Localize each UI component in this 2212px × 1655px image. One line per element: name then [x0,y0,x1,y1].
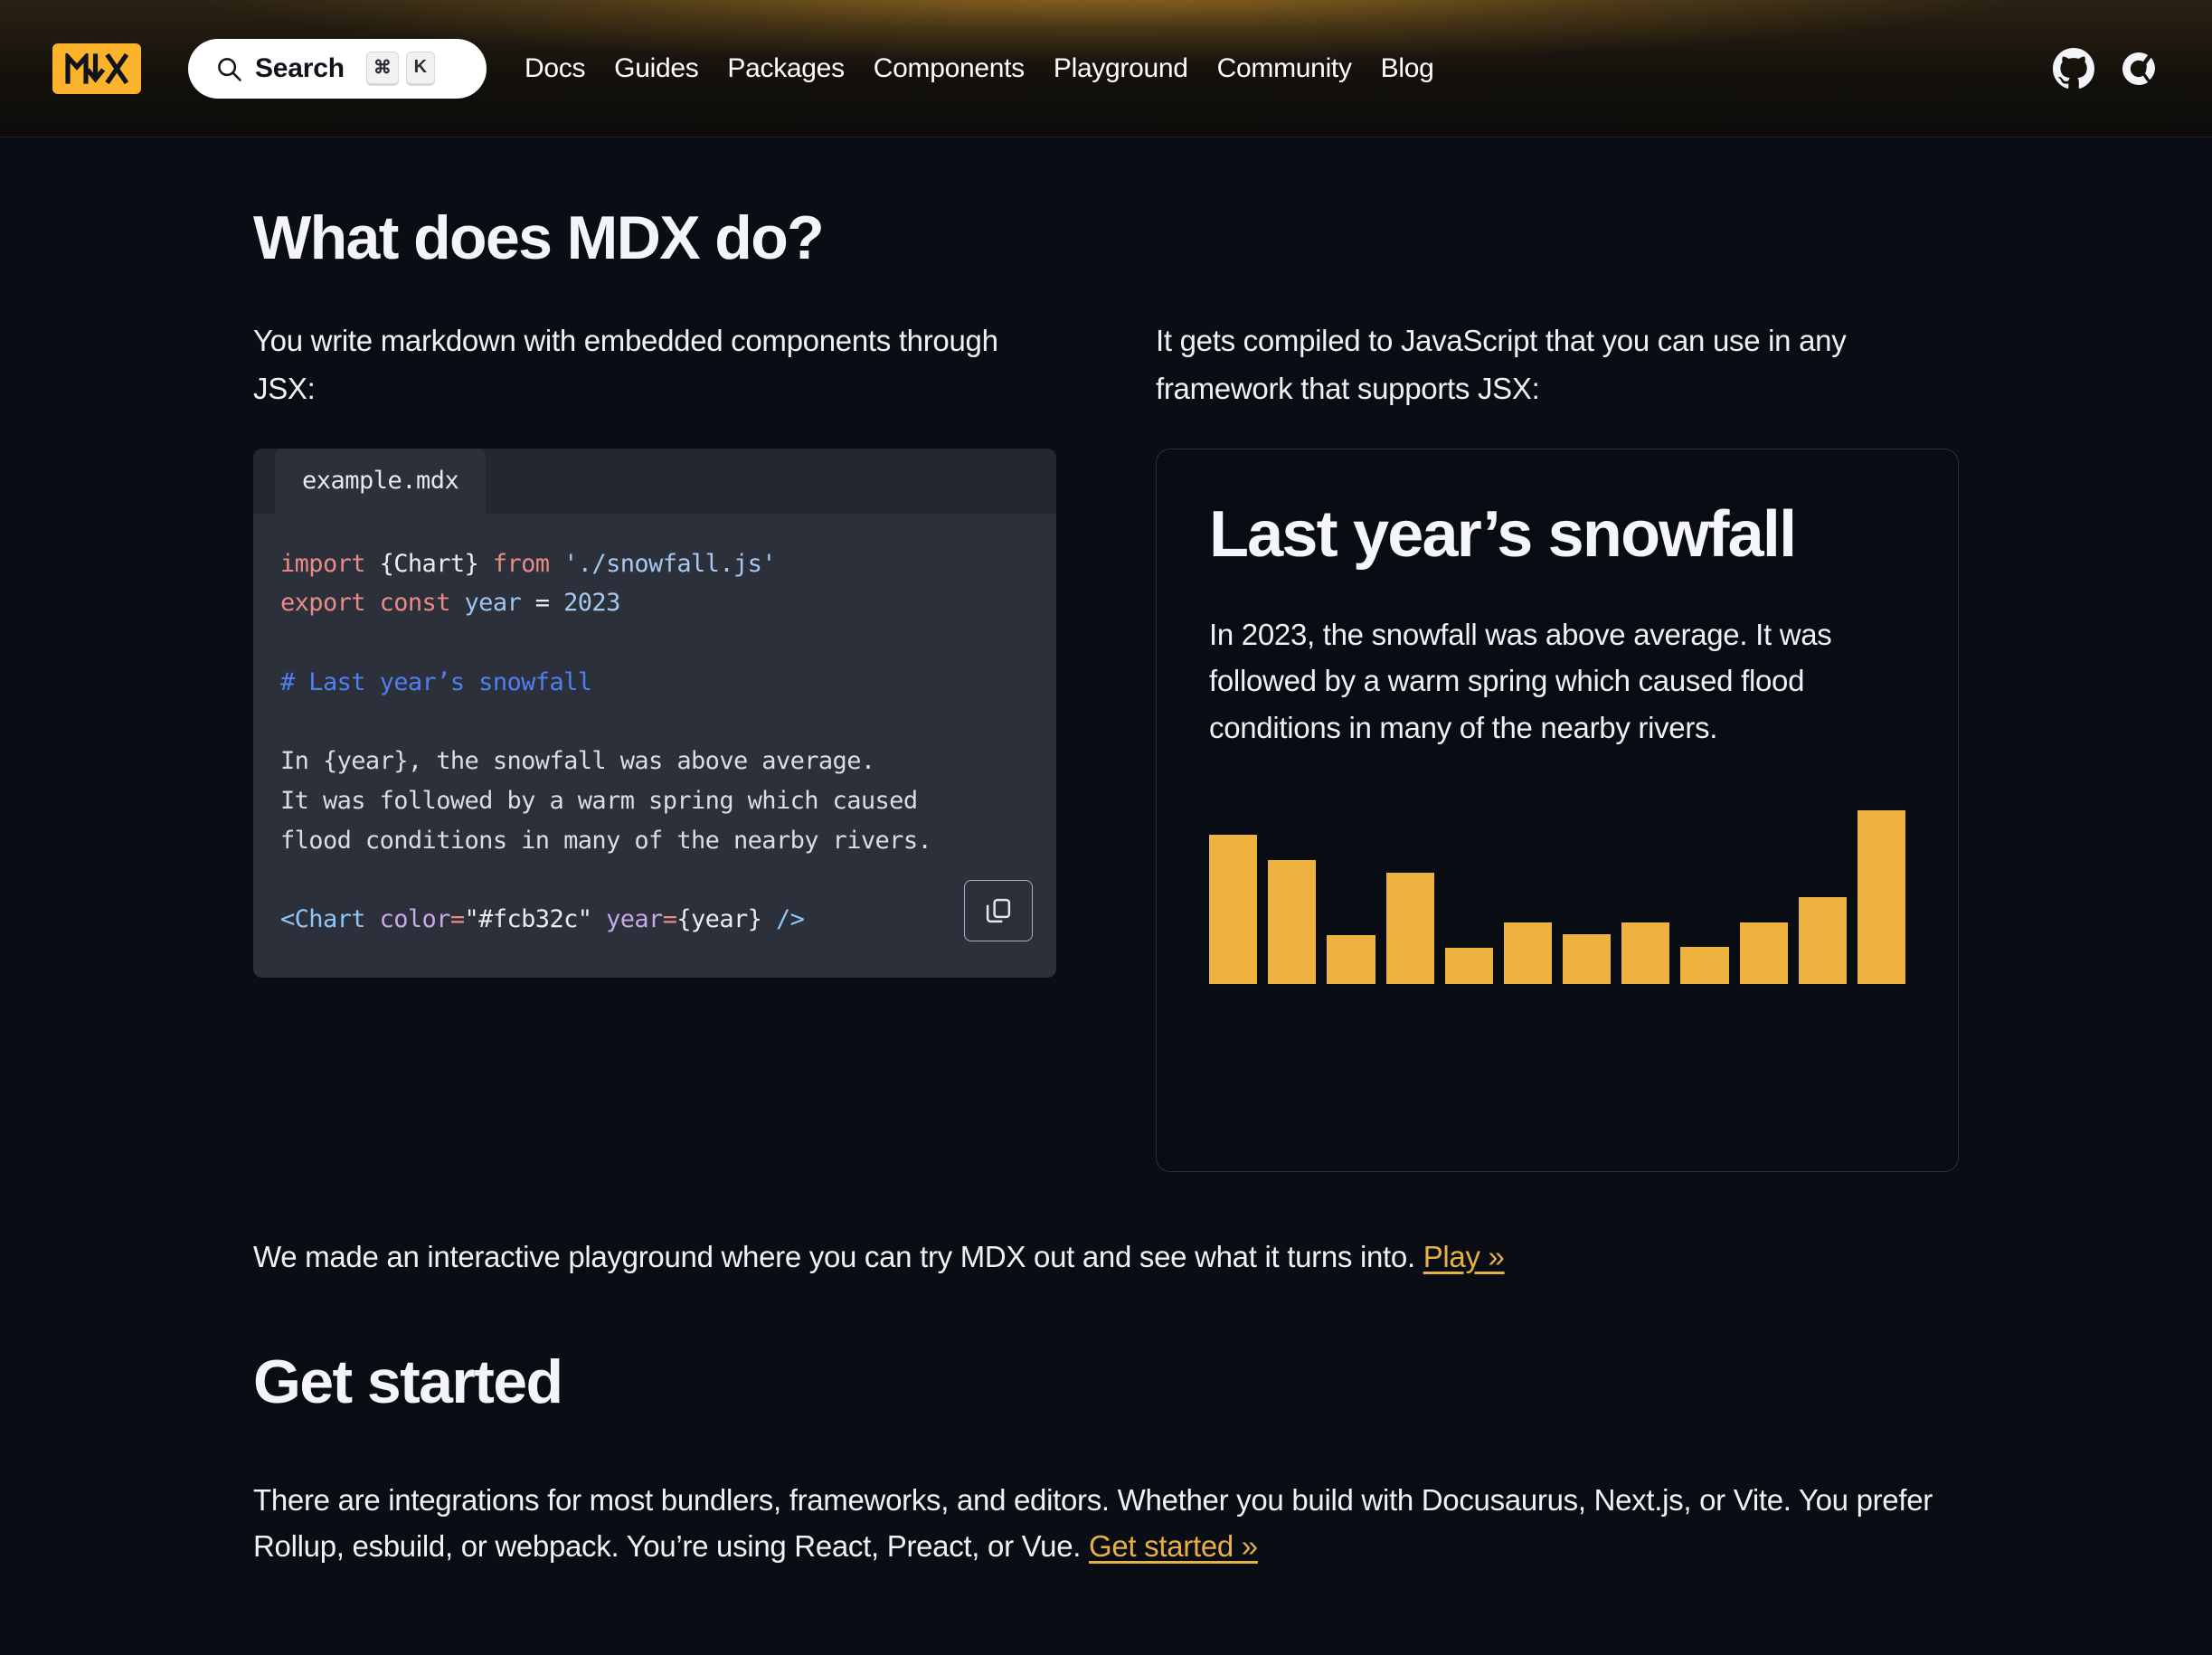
code-token-prose-1: In {year}, the snowfall was above averag… [280,747,875,775]
code-token-prose-3: flood conditions in many of the nearby r… [280,827,931,855]
main-nav: Docs Guides Packages Components Playgrou… [525,53,1434,84]
nav-link-playground[interactable]: Playground [1054,53,1188,84]
page-main: What does MDX do? You write markdown wit… [0,206,2212,1569]
code-tab-filename[interactable]: example.mdx [275,449,486,514]
search-shortcut: ⌘ K [366,52,435,86]
right-column: It gets compiled to JavaScript that you … [1156,317,1959,1171]
chart-bar [1858,810,1905,984]
chart-bar [1386,873,1434,984]
snowfall-bar-chart [1209,807,1905,984]
two-column-grid: You write markdown with embedded compone… [253,317,1959,1171]
preview-title: Last year’s snowfall [1209,500,1905,570]
opencollective-link[interactable] [2118,48,2160,90]
code-token-attr-color: color [365,905,450,933]
get-started-paragraph: There are integrations for most bundlers… [253,1477,1959,1570]
code-token-module-path: './snowfall.js' [549,550,776,578]
playground-text: We made an interactive playground where … [253,1240,1423,1273]
code-token-color-value: "#fcb32c" [465,905,592,933]
copy-icon [985,896,1012,925]
opencollective-icon [2118,48,2160,90]
get-started-title: Get started [253,1350,1959,1414]
nav-link-docs[interactable]: Docs [525,53,585,84]
preview-card: Last year’s snowfall In 2023, the snowfa… [1156,449,1959,1172]
get-started-link[interactable]: Get started » [1089,1529,1258,1563]
chart-bar [1740,922,1788,984]
chart-bar [1327,935,1375,984]
preview-paragraph: In 2023, the snowfall was above average.… [1209,611,1905,751]
content-container: What does MDX do? You write markdown wit… [136,206,2076,1569]
header-actions [2053,48,2160,90]
code-token-attr-eq-2: = [663,905,677,933]
code-token-equals: = [521,589,563,617]
nav-link-packages[interactable]: Packages [727,53,844,84]
search-icon [215,55,242,82]
code-token-attr-eq-1: = [450,905,465,933]
code-block: example.mdx import {Chart} from './snowf… [253,449,1056,978]
code-content: import {Chart} from './snowfall.js' expo… [253,514,1056,978]
left-lede: You write markdown with embedded compone… [253,317,1056,411]
chart-bar [1268,860,1316,984]
playground-paragraph: We made an interactive playground where … [253,1234,1959,1280]
github-icon [2053,48,2094,90]
search-input[interactable]: Search ⌘ K [188,39,487,99]
code-token-const: const [365,589,450,617]
code-token-chart-open: <Chart [280,905,365,933]
chart-bar [1209,835,1257,984]
code-token-export: export [280,589,365,617]
code-token-year-expr: {year} [676,905,761,933]
github-link[interactable] [2053,48,2094,90]
code-token-import: import [280,550,365,578]
play-link[interactable]: Play » [1423,1240,1505,1273]
code-token-chart-binding: {Chart} [365,550,493,578]
chart-bar [1445,948,1493,984]
left-column: You write markdown with embedded compone… [253,317,1056,1171]
nav-link-community[interactable]: Community [1217,53,1352,84]
kbd-k: K [406,52,435,86]
nav-link-components[interactable]: Components [874,53,1025,84]
code-token-markdown-heading: # Last year’s snowfall [280,668,591,696]
code-tabs: example.mdx [253,449,1056,514]
code-token-chart-close: /> [761,905,804,933]
nav-link-blog[interactable]: Blog [1381,53,1434,84]
chart-bar [1563,934,1611,984]
code-token-prose-2: It was followed by a warm spring which c… [280,787,918,815]
right-lede: It gets compiled to JavaScript that you … [1156,317,1959,411]
copy-button[interactable] [964,880,1033,941]
chart-bar [1799,897,1847,984]
mdx-logo[interactable] [52,43,141,94]
site-header: Search ⌘ K Docs Guides Packages Componen… [0,0,2212,137]
code-token-year-var: year [450,589,521,617]
mdx-logo-icon [65,53,128,84]
nav-link-guides[interactable]: Guides [614,53,698,84]
code-token-year-value: 2023 [563,589,620,617]
code-token-attr-year: year [591,905,662,933]
page-title: What does MDX do? [253,206,1959,270]
chart-bar [1504,922,1552,984]
chart-bar [1621,922,1669,984]
chart-bar [1680,947,1728,984]
code-token-from: from [493,550,550,578]
search-label: Search [255,53,345,84]
kbd-command: ⌘ [366,52,399,86]
